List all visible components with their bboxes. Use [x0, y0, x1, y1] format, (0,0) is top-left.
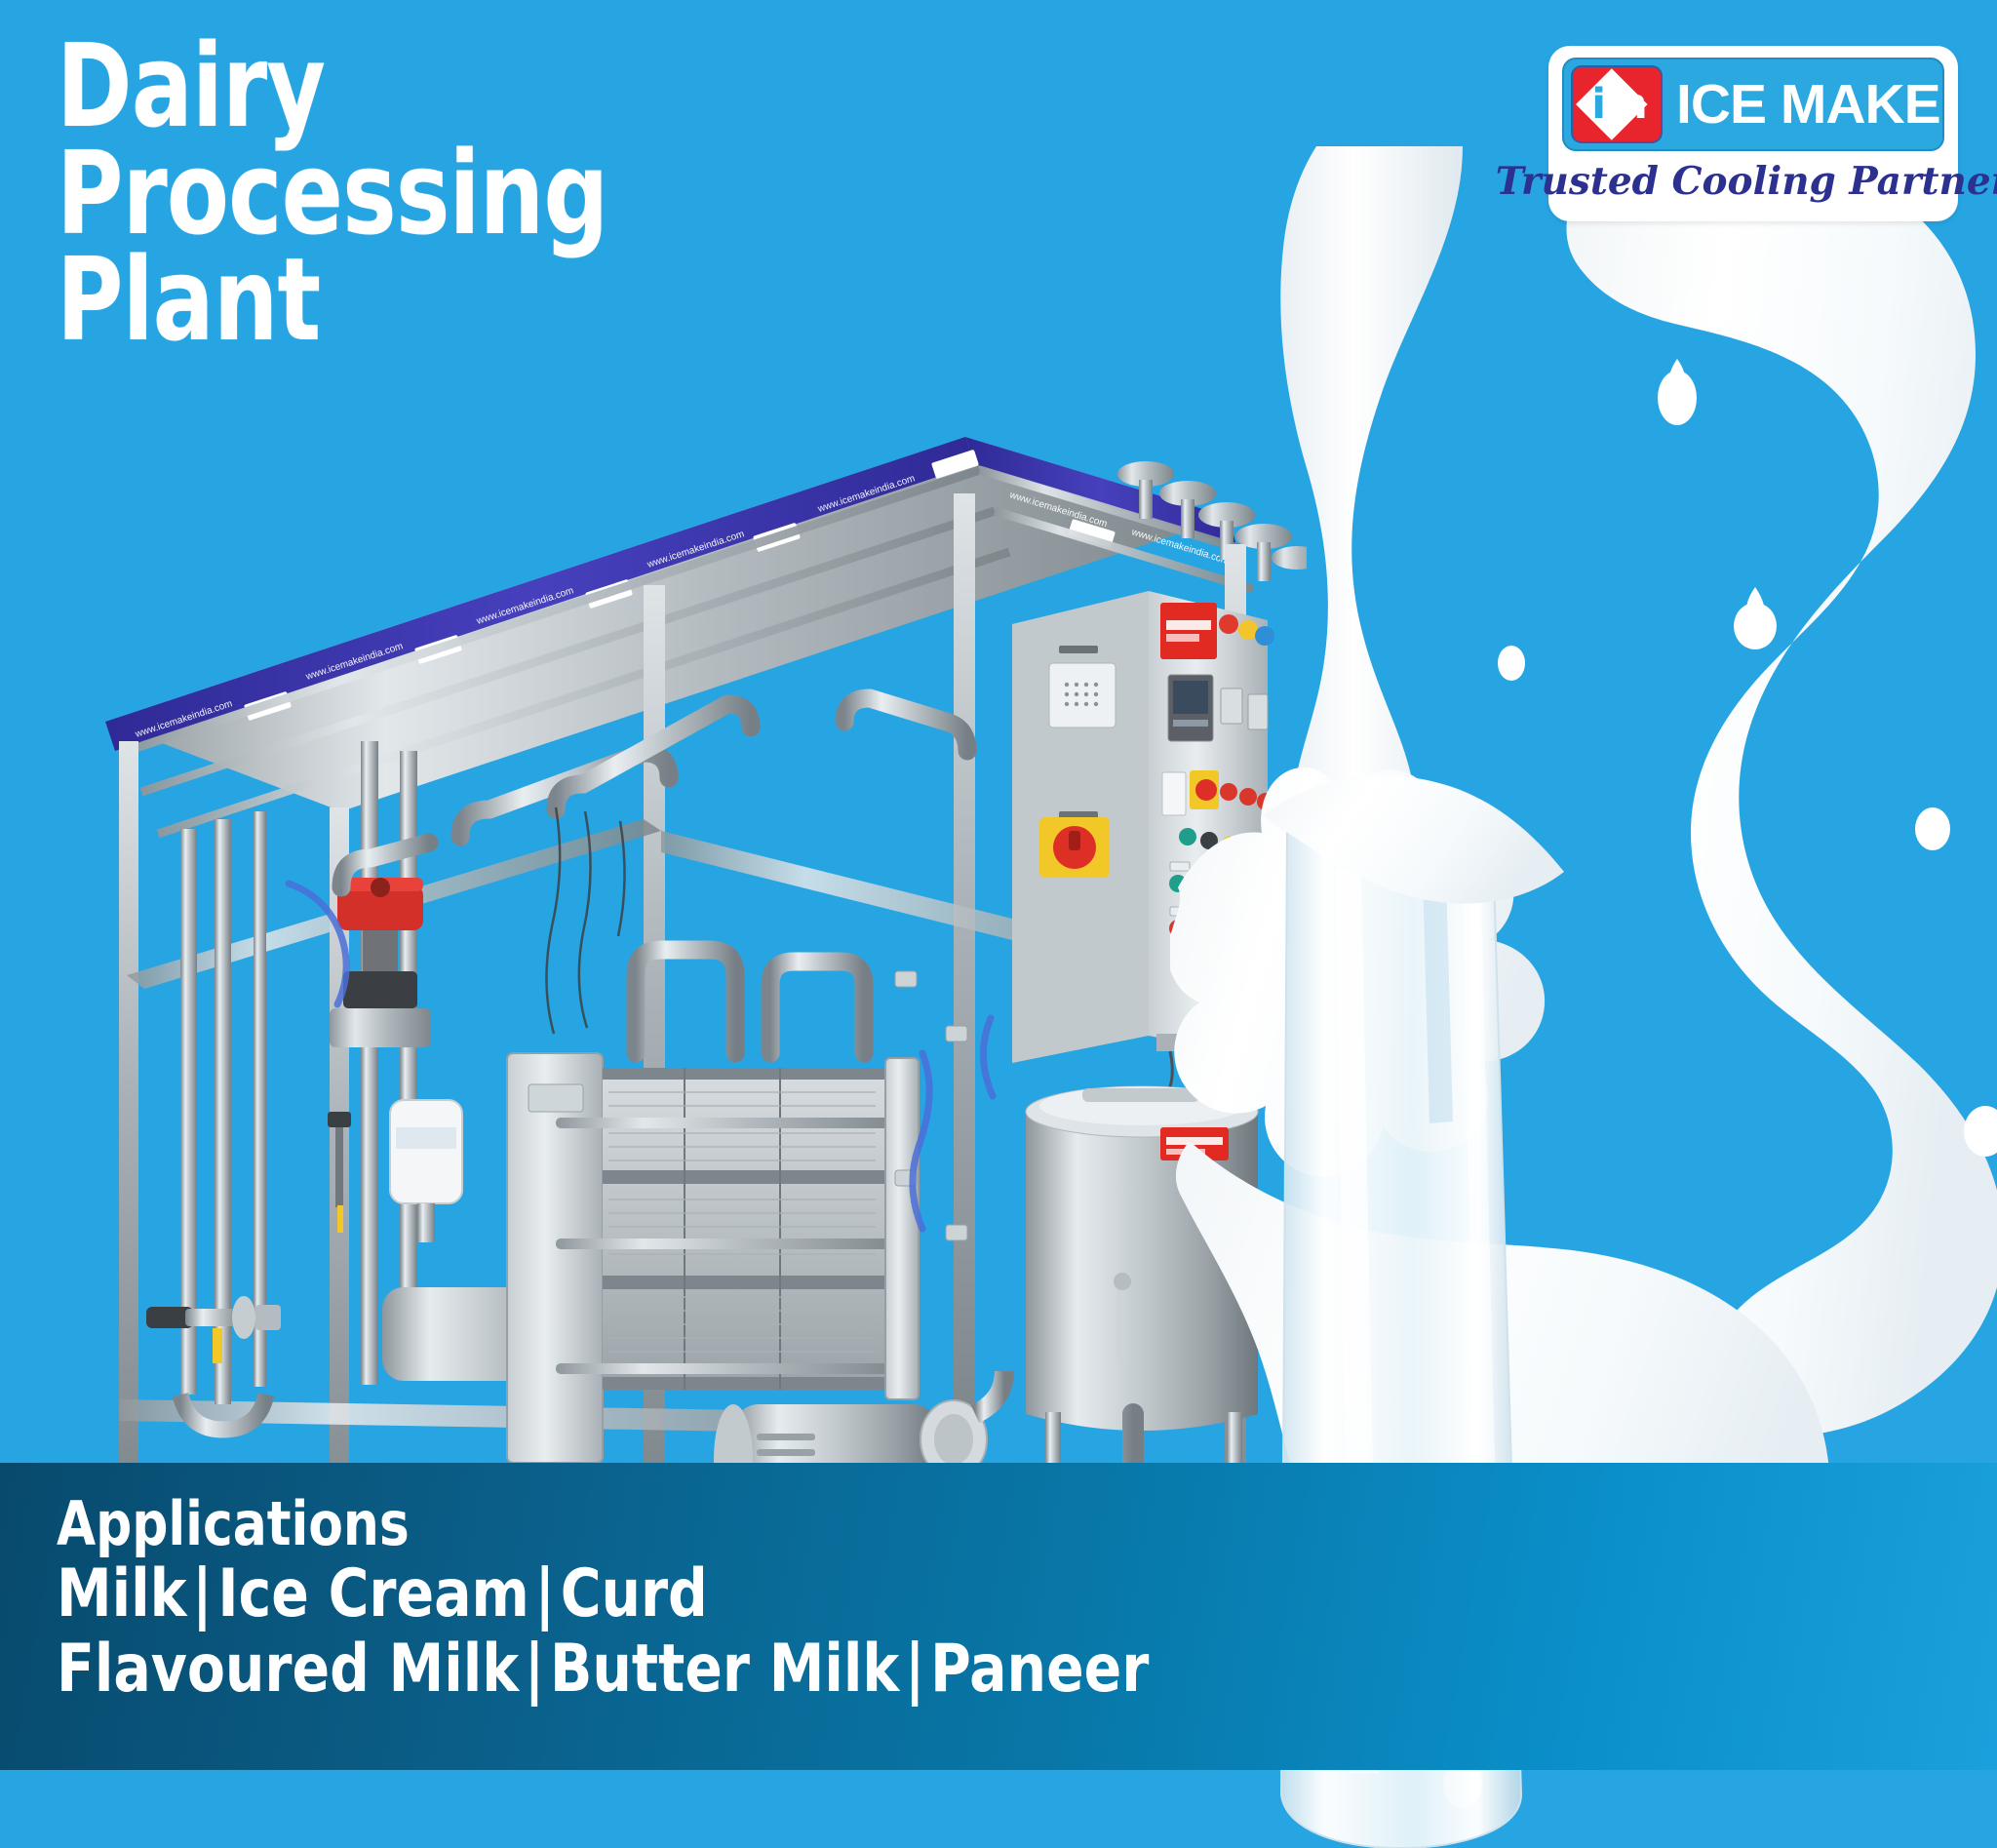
title-line-3: Plant	[57, 247, 607, 354]
brand-name: ICE MAKE	[1676, 72, 1940, 137]
logo-top-row: im ICE MAKE	[1562, 58, 1944, 151]
applications-heading: Applications	[57, 1490, 1149, 1557]
plate-heat-exchanger	[507, 1053, 919, 1463]
milk-splash-wing	[1566, 151, 1997, 1437]
separator-4: |	[899, 1631, 930, 1708]
logo-initial-i: i	[1591, 84, 1604, 126]
app-item-butter-milk: Butter Milk	[550, 1631, 899, 1708]
brand-tagline: Trusted Cooling Partner	[1562, 151, 1944, 214]
dairy-processing-plant-photo: www.icemakeindia.com www.icemakeindia.co…	[98, 429, 1307, 1629]
app-item-curd: Curd	[561, 1555, 708, 1632]
applications-line-1: Milk|Ice Cream|Curd	[57, 1557, 1149, 1632]
icemake-mark-icon: im	[1571, 65, 1663, 143]
separator-2: |	[529, 1555, 561, 1632]
app-item-paneer: Paneer	[930, 1631, 1149, 1708]
poster-canvas: Dairy Processing Plant	[0, 0, 1997, 1848]
logo-initial-m: m	[1604, 84, 1646, 126]
app-item-ice-cream: Ice Cream	[217, 1555, 529, 1632]
separator-3: |	[519, 1631, 550, 1708]
separator-1: |	[186, 1555, 217, 1632]
page-title: Dairy Processing Plant	[57, 33, 607, 354]
u-bend-pipes	[636, 950, 864, 1053]
applications-text-block: Applications Milk|Ice Cream|Curd Flavour…	[57, 1490, 1149, 1707]
app-item-milk: Milk	[57, 1555, 186, 1632]
brand-logo[interactable]: im ICE MAKE Trusted Cooling Partner	[1548, 46, 1958, 221]
app-item-flavoured-milk: Flavoured Milk	[57, 1631, 519, 1708]
holding-tubes	[180, 741, 417, 1430]
applications-line-2: Flavoured Milk|Butter Milk|Paneer	[57, 1632, 1149, 1707]
logo-initials: im	[1573, 67, 1661, 141]
title-line-1: Dairy	[57, 33, 607, 140]
title-line-2: Processing	[57, 140, 607, 248]
